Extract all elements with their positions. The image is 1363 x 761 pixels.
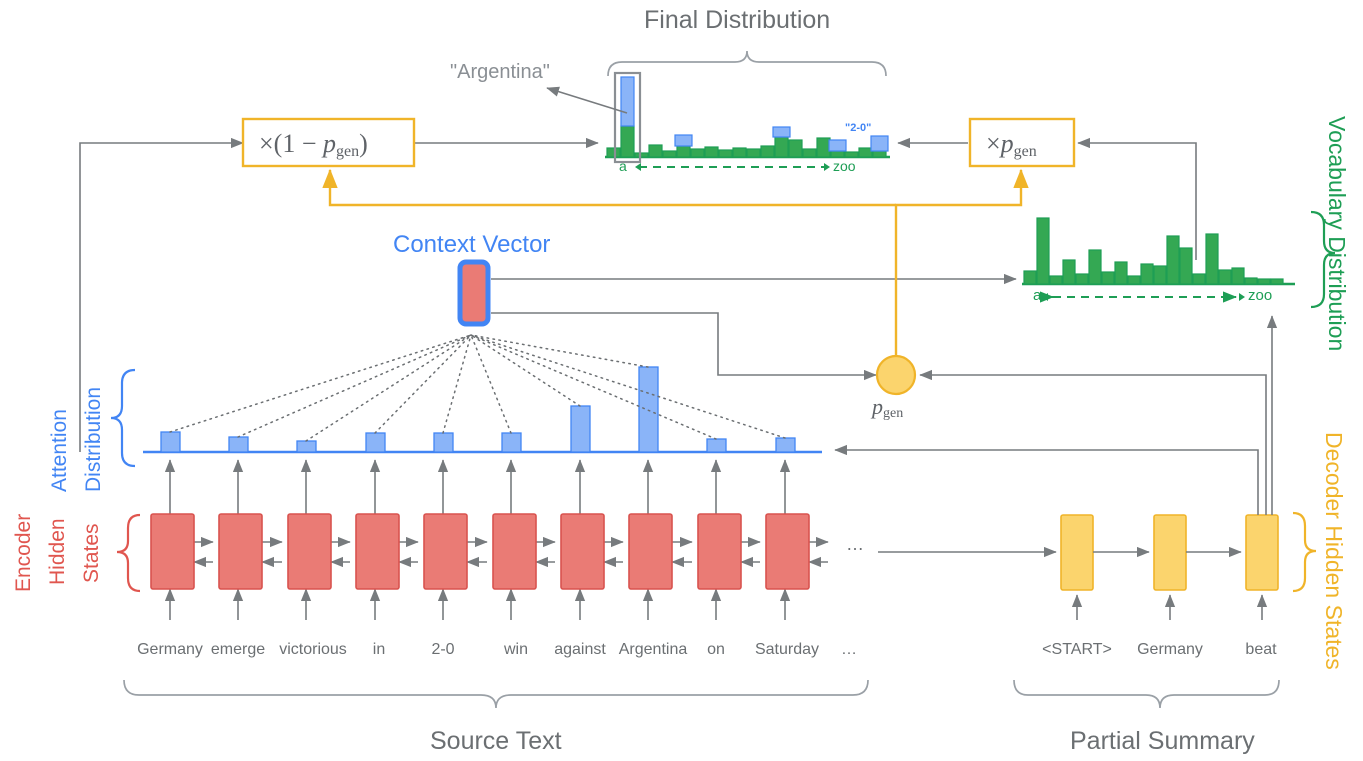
- source-token-9: Saturday: [755, 641, 819, 659]
- vocab-axis-left-tick: a: [1033, 287, 1041, 304]
- summary-token-1: Germany: [1137, 641, 1203, 659]
- two-nil-callout-label: "2-0": [845, 122, 871, 134]
- final-axis-right-tick: zoo: [833, 158, 856, 174]
- context-to-pgen-link: [491, 313, 876, 375]
- decoder-to-pgen-link: [920, 375, 1266, 515]
- encoder-ellipsis: …: [846, 534, 866, 555]
- brace-partial-summary: [1014, 680, 1279, 708]
- decoder-to-attention-link: [835, 450, 1258, 515]
- source-token-4: 2-0: [431, 641, 454, 659]
- encoder-cells: [151, 460, 828, 620]
- brace-final-distribution: [608, 51, 886, 76]
- brace-encoder-hidden-states: [117, 515, 140, 591]
- source-token-3: in: [373, 641, 385, 659]
- pgen-variable-2: p: [1001, 129, 1014, 158]
- vocabulary-distribution-label: Vocabulary Distribution: [1323, 116, 1350, 351]
- one-minus-pgen-prefix: ×(1 −: [259, 129, 323, 158]
- times-symbol: ×: [986, 129, 1001, 158]
- pgen-subscript-2: gen: [1014, 143, 1037, 160]
- vocab-axis-right-tick: zoo: [1248, 287, 1272, 304]
- source-token-5: win: [504, 641, 528, 659]
- summary-token-2: beat: [1245, 641, 1276, 659]
- diagram-canvas: Final Distribution "Argentina" "2-0" ×(1…: [0, 0, 1363, 761]
- partial-summary-title: Partial Summary: [1070, 727, 1255, 756]
- source-token-6: against: [554, 641, 606, 659]
- context-vector-title: Context Vector: [393, 231, 550, 259]
- times-pgen-formula: ×pgen: [986, 128, 1037, 161]
- brace-attention-distribution: [111, 370, 135, 466]
- source-token-2: victorious: [279, 641, 347, 659]
- encoder-hidden-label-line3: States: [80, 523, 104, 583]
- attention-distribution-label-line1: Attention: [48, 409, 72, 492]
- brace-decoder-hidden-states: [1293, 513, 1316, 591]
- source-tokens-ellipsis: …: [841, 641, 857, 659]
- decoder-cells: [1061, 515, 1278, 620]
- attention-distribution-label-line2: Distribution: [82, 387, 106, 492]
- pgen-node-subscript: gen: [883, 406, 903, 421]
- source-token-1: emerge: [211, 641, 265, 659]
- one-minus-pgen-suffix: ): [359, 129, 368, 158]
- encoder-hidden-label-line1: Encoder: [12, 514, 36, 592]
- argentina-callout-label: "Argentina": [450, 61, 550, 84]
- brace-source-text: [124, 680, 868, 708]
- pgen-routing-lines: [330, 170, 1021, 356]
- pgen-subscript: gen: [336, 143, 359, 160]
- pgen-node-variable: p: [872, 394, 883, 419]
- final-distribution-title: Final Distribution: [644, 6, 830, 35]
- attention-distribution-chart: [143, 367, 822, 452]
- source-text-title: Source Text: [430, 727, 562, 756]
- decoder-hidden-states-label: Decoder Hidden States: [1320, 432, 1347, 670]
- pgen-node-label: pgen: [872, 394, 903, 422]
- final-axis-left-tick: a: [619, 158, 627, 174]
- source-token-8: on: [707, 641, 725, 659]
- source-token-7: Argentina: [619, 641, 688, 659]
- source-token-0: Germany: [137, 641, 203, 659]
- encoder-hidden-label-line2: Hidden: [46, 518, 70, 585]
- summary-token-0: <START>: [1042, 641, 1112, 659]
- one-minus-pgen-formula: ×(1 − pgen): [259, 128, 368, 161]
- attention-to-context-fan: [170, 335, 785, 441]
- pgen-node: [877, 356, 915, 394]
- pgen-variable: p: [323, 129, 336, 158]
- context-vector-box: [460, 262, 488, 324]
